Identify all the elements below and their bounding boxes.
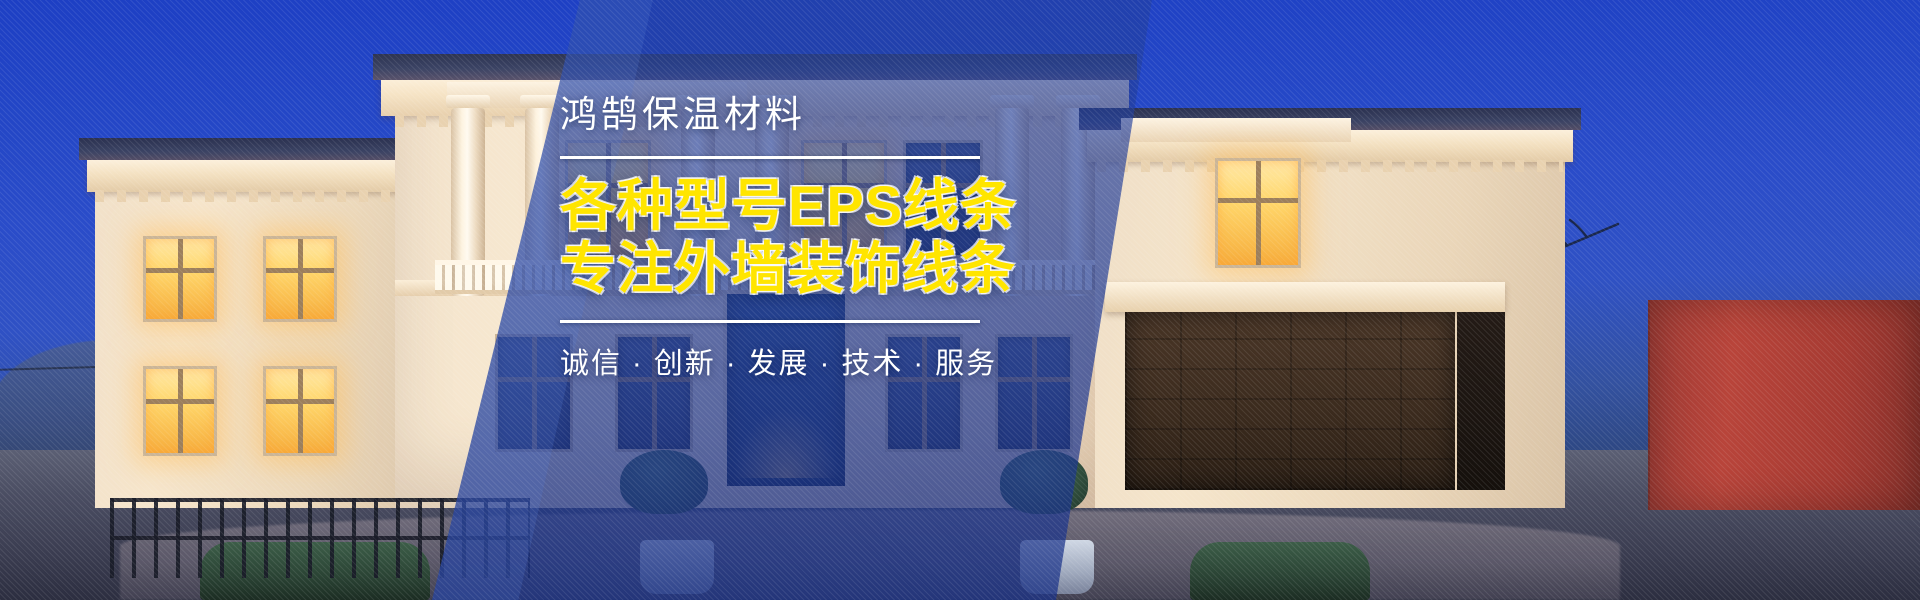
window-mullion-horizontal	[146, 268, 214, 273]
company-name: 鸿鹄保温材料	[560, 96, 1030, 133]
window-mullion-vertical	[298, 369, 303, 453]
red-wall	[1650, 300, 1920, 510]
right-wing-beam	[1121, 118, 1351, 142]
garage-recess	[1457, 312, 1505, 490]
left-wing-dentils	[95, 190, 415, 202]
headline-block: 各种型号EPS线条 专注外墙装饰线条	[560, 175, 1030, 300]
window-lit	[143, 366, 217, 456]
divider-rule-top	[560, 156, 980, 159]
headline-line-1: 各种型号EPS线条	[560, 175, 1030, 238]
banner-content: 鸿鹄保温材料 各种型号EPS线条 专注外墙装饰线条 诚信 · 创新 · 发展 ·…	[560, 96, 1030, 382]
garage-door	[1125, 312, 1455, 490]
left-wing-cornice	[87, 158, 423, 192]
window-mullion-vertical	[1256, 161, 1261, 265]
window-mullion-vertical	[178, 369, 183, 453]
window-lit	[263, 366, 337, 456]
window-lit	[263, 236, 337, 322]
garage-lintel	[1105, 282, 1505, 312]
headline-line-2: 专注外墙装饰线条	[560, 238, 1030, 301]
hedge	[1190, 542, 1370, 600]
left-wing-roof	[79, 138, 431, 160]
window-lit	[1215, 158, 1301, 268]
column-capital	[446, 95, 490, 108]
divider-rule-bottom	[560, 320, 980, 323]
window-mullion-horizontal	[266, 268, 334, 273]
window-mullion-vertical	[298, 239, 303, 319]
window-mullion-horizontal	[146, 399, 214, 404]
window-lit	[143, 236, 217, 322]
window-mullion-horizontal	[266, 399, 334, 404]
right-wing-dentils	[1097, 160, 1563, 172]
window-mullion-vertical	[178, 239, 183, 319]
window-mullion-horizontal	[1218, 198, 1298, 203]
tagline: 诚信 · 创新 · 发展 · 技术 · 服务	[560, 340, 1030, 382]
promo-banner: 鸿鹄保温材料 各种型号EPS线条 专注外墙装饰线条 诚信 · 创新 · 发展 ·…	[0, 0, 1920, 600]
